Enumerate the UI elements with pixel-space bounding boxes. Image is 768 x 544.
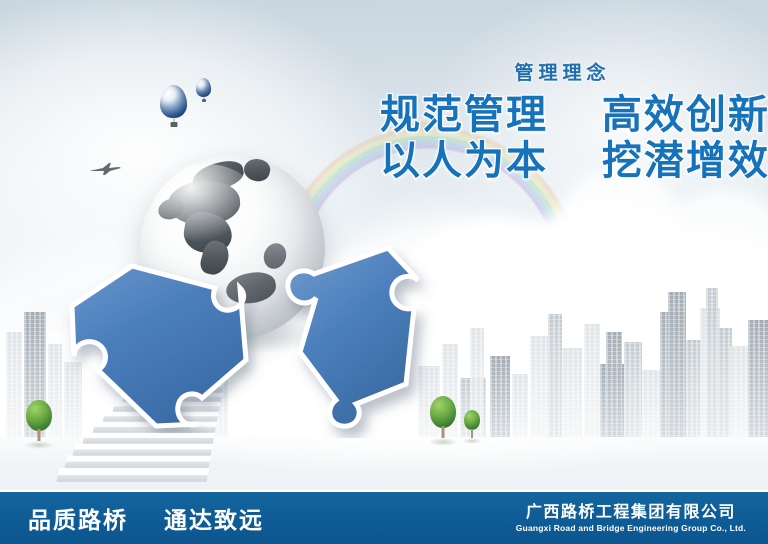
bottom-banner: 品质路桥 通达致远 广西路桥工程集团有限公司 Guangxi Road and …: [0, 490, 768, 544]
headline-line1-right: 高效创新: [602, 92, 768, 138]
headline-line2-left: 以人为本: [380, 138, 548, 184]
headline-block: 管理理念 规范管理 高效创新 以人为本 挖潜增效: [380, 58, 740, 184]
airplane-icon: [88, 162, 122, 176]
blue-jigsaw-piece-right: [238, 238, 438, 438]
company-name-cn: 广西路桥工程集团有限公司: [516, 502, 746, 521]
company-brand: 广西路桥工程集团有限公司 Guangxi Road and Bridge Eng…: [516, 502, 746, 534]
hot-air-balloon-large: [160, 85, 187, 127]
headline-line-2: 以人为本 挖潜增效: [380, 138, 740, 184]
poster-canvas: 管理理念 规范管理 高效创新 以人为本 挖潜增效 品质路桥 通达致远 广西路桥工…: [0, 0, 768, 544]
blue-jigsaw-piece-left: [60, 248, 265, 433]
headline-line1-left: 规范管理: [380, 92, 548, 138]
company-name-en: Guangxi Road and Bridge Engineering Grou…: [516, 522, 746, 534]
headline-line2-right: 挖潜增效: [602, 138, 768, 184]
banner-slogan-left: 品质路桥: [28, 508, 128, 534]
hot-air-balloon-small: [196, 78, 211, 102]
banner-slogan: 品质路桥 通达致远: [28, 501, 264, 535]
banner-slogan-right: 通达致远: [164, 508, 264, 534]
headline-line-1: 规范管理 高效创新: [380, 92, 740, 138]
headline-eyebrow: 管理理念: [380, 58, 740, 85]
green-tree-mid: [464, 410, 480, 442]
green-tree-left: [26, 400, 52, 444]
